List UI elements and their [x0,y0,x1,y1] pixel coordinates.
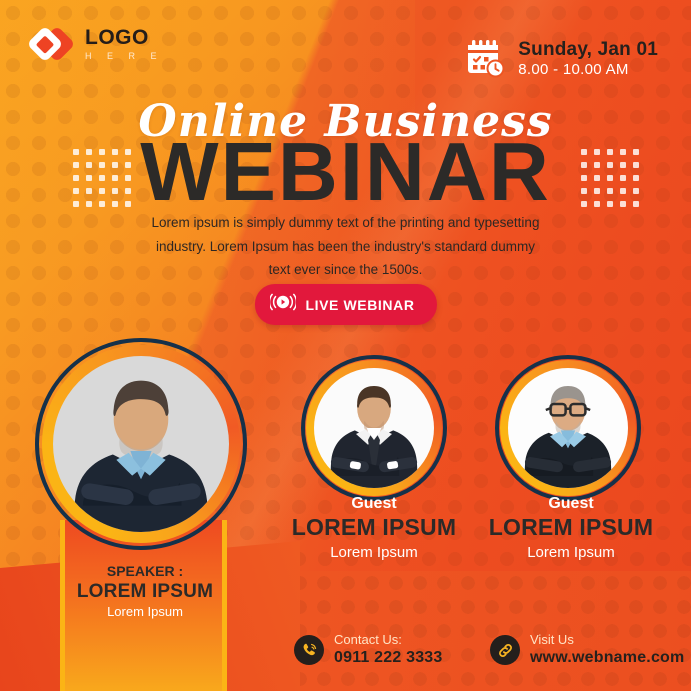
contact-phone[interactable]: Contact Us: 0911 222 3333 [294,633,443,667]
contact-website-value: www.webname.com [530,648,684,667]
live-webinar-label: LIVE WEBINAR [305,297,414,313]
guest-two-avatar[interactable] [495,355,641,501]
event-date-block: Sunday, Jan 01 8.00 - 10.00 AM [465,38,658,80]
live-webinar-button[interactable]: LIVE WEBINAR [254,284,436,325]
logo-text-primary: LOGO [85,27,163,48]
guest-two-role: Guest [481,494,661,514]
speaker-name-block: SPEAKER : LOREM IPSUM Lorem Ipsum [55,563,235,622]
logo[interactable]: LOGO H E R E [30,27,163,61]
guest-two-photo [508,368,628,488]
speaker-name: LOREM IPSUM [55,581,235,604]
event-day: Sunday, Jan 01 [518,39,658,61]
contact-website[interactable]: Visit Us www.webname.com [490,633,684,667]
guest-one-photo [314,368,434,488]
phone-icon [294,635,324,665]
guest-one-role: Guest [284,494,464,514]
contact-phone-label: Contact Us: [334,633,443,648]
guest-one-name: LOREM IPSUM [284,514,464,542]
guest-one-avatar[interactable] [301,355,447,501]
guest-two-subtitle: Lorem Ipsum [481,542,661,564]
guest-one-subtitle: Lorem Ipsum [284,542,464,564]
page-title: WEBINAR [0,130,691,213]
speaker-avatar[interactable] [35,338,247,550]
guest-one-name-block: Guest LOREM IPSUM Lorem Ipsum [284,494,464,563]
guest-two-name-block: Guest LOREM IPSUM Lorem Ipsum [481,494,661,563]
speaker-role: SPEAKER : [55,563,235,581]
broadcast-play-icon [269,293,295,316]
speaker-subtitle: Lorem Ipsum [55,603,235,622]
diamond-logo-icon [30,27,76,61]
webinar-poster: LOGO H E R E Sunda [0,0,691,691]
contact-website-label: Visit Us [530,633,684,648]
speaker-photo [53,356,229,532]
description-text: Lorem ipsum is simply dummy text of the … [150,211,541,282]
logo-text-secondary: H E R E [85,52,163,61]
event-time: 8.00 - 10.00 AM [518,61,658,79]
contact-phone-value: 0911 222 3333 [334,648,443,667]
calendar-clock-icon [465,38,507,80]
guest-two-name: LOREM IPSUM [481,514,661,542]
link-icon [490,635,520,665]
